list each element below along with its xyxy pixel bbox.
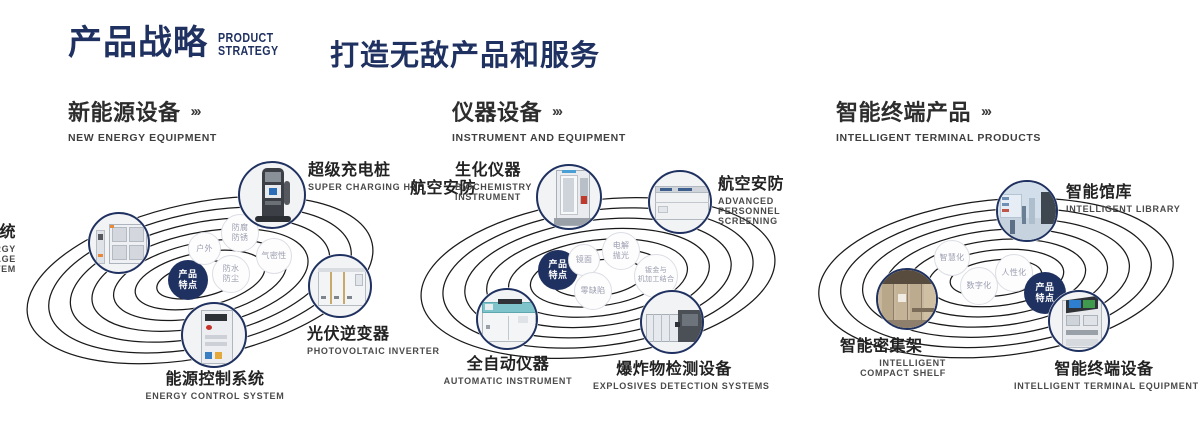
- page-title-en-line2: STRATEGY: [218, 44, 279, 58]
- page-title-en-line1: PRODUCT: [218, 31, 279, 45]
- node-energy-control-system[interactable]: [181, 302, 247, 368]
- label-cn: 储能系统: [0, 218, 16, 242]
- feature-bubble: 防水 防尘: [212, 255, 250, 293]
- control-cabinet-icon: [183, 304, 245, 366]
- label-automatic-instrument: 全自动仪器 AUTOMATIC INSTRUMENT: [428, 350, 588, 386]
- label-cn: 智能馆库: [1066, 178, 1180, 202]
- label-energy-storage-system: 储能系统 ENERGY STORAGE SYSTEM: [0, 218, 16, 274]
- feature-bubble-line2: 抛光: [613, 251, 630, 261]
- core-bubble: 产品 特点: [168, 260, 208, 300]
- label-cn: 能源控制系统: [130, 365, 300, 389]
- node-biochemistry-instrument[interactable]: [536, 164, 602, 230]
- core-bubble-line2: 特点: [178, 280, 197, 291]
- section-heading-en: INTELLIGENT TERMINAL PRODUCTS: [836, 132, 1041, 144]
- node-automatic-instrument[interactable]: [476, 288, 538, 350]
- node-advanced-personnel-screening[interactable]: [648, 170, 712, 234]
- compact-shelf-icon: [878, 270, 936, 328]
- label-cn: 生化仪器: [455, 156, 521, 180]
- label-en: ADVANCED PERSONNEL SCREENING: [718, 196, 794, 226]
- feature-bubble-line2: 机加工结合: [638, 276, 675, 285]
- section-heading-cn: 仪器设备 ›››: [452, 95, 626, 127]
- label-cn: 智能密集架: [840, 332, 980, 356]
- diagram-intelligent-terminal: 智慧化 数字化 人性化 产品 特点: [800, 150, 1200, 410]
- node-explosives-detection-systems[interactable]: [640, 290, 704, 354]
- feature-bubble-line1: 镜面: [576, 255, 593, 265]
- page-title-en: PRODUCT STRATEGY: [218, 31, 279, 58]
- section-heading-cn: 新能源设备 ›››: [68, 95, 217, 127]
- page-title: 产品战略 PRODUCT STRATEGY: [68, 26, 292, 60]
- feature-bubble: 智慧化: [934, 240, 970, 276]
- node-energy-storage-system[interactable]: [88, 212, 150, 274]
- label-en: ENERGY CONTROL SYSTEM: [130, 391, 300, 401]
- label-biochemistry-instrument: 生化仪器 BIOCHEMISTRY INSTRUMENT: [455, 156, 521, 202]
- label-cn: 全自动仪器: [428, 350, 588, 374]
- feature-bubble-line1: 人性化: [1002, 268, 1027, 278]
- page-subtitle: 打造无敌产品和服务: [330, 32, 600, 74]
- feature-bubble-line1: 户外: [196, 244, 213, 254]
- chevron-right-icon: ›››: [552, 103, 561, 120]
- page-title-cn: 产品战略: [68, 26, 208, 60]
- label-explosives-detection-systems: 爆炸物检测设备 EXPLOSIVES DETECTION SYSTEMS: [593, 355, 755, 391]
- diagram-instrument: 产品 特点 镜面 电解 抛光 钣金与 机加工结合 零缺陷 航空安防: [400, 150, 800, 410]
- biochem-analyzer-icon: [538, 166, 600, 228]
- feature-bubble-line2: 防尘: [223, 274, 240, 284]
- label-en: BIOCHEMISTRY INSTRUMENT: [455, 182, 513, 202]
- screening-machine-icon: [650, 172, 710, 232]
- feature-bubble-line1: 智慧化: [940, 253, 965, 263]
- core-bubble-line1: 产品: [178, 269, 197, 280]
- feature-bubble-line2: 防锈: [232, 233, 249, 243]
- label-en: EXPLOSIVES DETECTION SYSTEMS: [593, 381, 755, 391]
- section-heading-new-energy: 新能源设备 ››› NEW ENERGY EQUIPMENT: [68, 95, 217, 144]
- node-photovoltaic-inverter[interactable]: [308, 254, 372, 318]
- label-cn: 智能终端设备: [1014, 355, 1194, 379]
- feature-bubble-line1: 电解: [613, 241, 630, 251]
- label-advanced-personnel-screening: 航空安防 ADVANCED PERSONNEL SCREENING: [718, 170, 794, 226]
- label-en: ENERGY STORAGE SYSTEM: [0, 244, 16, 274]
- inverter-cabinet-icon: [310, 256, 370, 316]
- core-bubble-line1: 产品: [548, 259, 567, 270]
- label-cn: 航空安防: [718, 170, 794, 194]
- section-heading-cn-text: 仪器设备: [452, 95, 542, 127]
- label-en: INTELLIGENT LIBRARY: [1066, 204, 1180, 214]
- feature-bubble: 户外: [188, 232, 221, 265]
- section-heading-en: INSTRUMENT AND EQUIPMENT: [452, 132, 626, 144]
- explosive-detector-icon: [642, 292, 702, 352]
- feature-bubble-line1: 零缺陷: [581, 286, 606, 296]
- node-intelligent-compact-shelf[interactable]: [876, 268, 938, 330]
- section-heading-cn-text: 新能源设备: [68, 95, 181, 127]
- battery-cabinet-icon: [90, 214, 148, 272]
- diagram-new-energy: 产品 特点 户外 防腐 防锈 气密性 防水 防尘: [0, 150, 400, 410]
- label-cn: 爆炸物检测设备: [593, 355, 755, 379]
- chevron-right-icon: ›››: [191, 103, 200, 120]
- auto-instrument-icon: [478, 290, 536, 348]
- chevron-right-icon: ›››: [981, 103, 990, 120]
- label-intelligent-compact-shelf: 智能密集架 INTELLIGENT COMPACT SHELF: [840, 332, 980, 378]
- feature-bubble-line1: 防水: [223, 264, 240, 274]
- label-intelligent-terminal-equipment: 智能终端设备 INTELLIGENT TERMINAL EQUIPMENT: [1014, 355, 1194, 391]
- node-super-charging-hub[interactable]: [238, 161, 306, 229]
- slide-canvas: 产品战略 PRODUCT STRATEGY 打造无敌产品和服务 新能源设备 ››…: [0, 0, 1200, 422]
- feature-bubble-line1: 气密性: [262, 251, 287, 261]
- section-heading-en: NEW ENERGY EQUIPMENT: [68, 132, 217, 144]
- feature-bubble-line1: 钣金与: [645, 267, 667, 276]
- core-bubble-line2: 特点: [548, 270, 567, 281]
- label-en: AUTOMATIC INSTRUMENT: [428, 376, 588, 386]
- feature-bubble-line1: 数字化: [967, 281, 992, 291]
- label-en: INTELLIGENT TERMINAL EQUIPMENT: [1014, 381, 1194, 391]
- feature-bubble: 数字化: [960, 267, 998, 305]
- feature-bubble: 零缺陷: [574, 272, 612, 310]
- label-intelligent-library: 智能馆库 INTELLIGENT LIBRARY: [1066, 178, 1180, 214]
- node-intelligent-library[interactable]: [996, 180, 1058, 242]
- section-heading-intelligent-terminal: 智能终端产品 ››› INTELLIGENT TERMINAL PRODUCTS: [836, 95, 1041, 144]
- feature-bubble: 气密性: [256, 238, 292, 274]
- section-heading-cn-text: 智能终端产品: [836, 95, 971, 127]
- charging-pile-icon: [240, 163, 304, 227]
- label-energy-control-system: 能源控制系统 ENERGY CONTROL SYSTEM: [130, 365, 300, 401]
- feature-bubble: 电解 抛光: [602, 232, 640, 270]
- node-intelligent-terminal-equipment[interactable]: [1048, 290, 1110, 352]
- terminal-kiosk-icon: [1050, 292, 1108, 350]
- library-room-icon: [998, 182, 1056, 240]
- label-en: INTELLIGENT COMPACT SHELF: [840, 358, 946, 378]
- section-heading-instrument: 仪器设备 ››› INSTRUMENT AND EQUIPMENT: [452, 95, 626, 144]
- section-heading-cn: 智能终端产品 ›››: [836, 95, 1041, 127]
